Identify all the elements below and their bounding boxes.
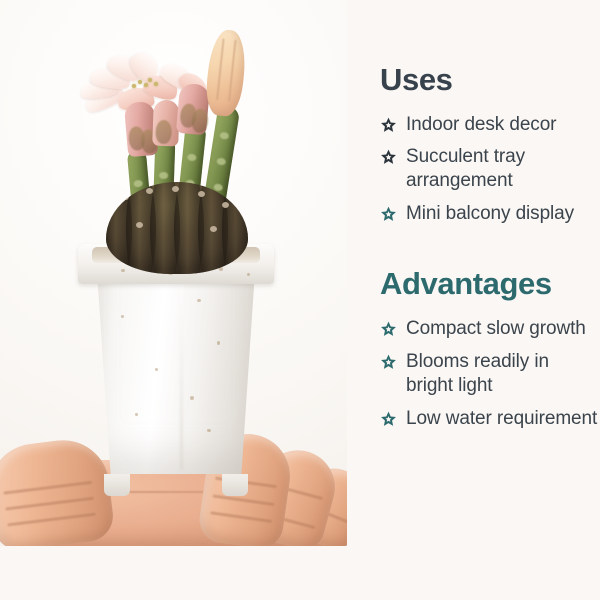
- flower-tube-3: [176, 83, 210, 135]
- plant-pot-group: [78, 244, 274, 502]
- uses-list: Indoor desk decor Succulent tray arrange…: [380, 113, 600, 227]
- pot-corner-highlight: [180, 270, 183, 470]
- list-item-label: Low water requirement: [406, 407, 597, 431]
- star-icon: [380, 411, 397, 428]
- list-item: Indoor desk decor: [380, 113, 600, 137]
- product-photo: [0, 0, 347, 546]
- cactus-body: [106, 182, 248, 274]
- section-title-uses: Uses: [380, 64, 600, 97]
- list-item: Low water requirement: [380, 407, 600, 431]
- section-title-advantages: Advantages: [380, 268, 600, 301]
- list-item-label: Mini balcony display: [406, 202, 574, 226]
- list-item: Blooms readily in bright light: [380, 350, 600, 398]
- star-icon: [380, 149, 397, 166]
- pot-body: [90, 270, 262, 474]
- star-icon: [380, 321, 397, 338]
- list-item-label: Compact slow growth: [406, 317, 586, 341]
- advantages-list: Compact slow growth Blooms readily in br…: [380, 317, 600, 431]
- infographic-page: Uses Indoor desk decor Succulent tray ar…: [0, 0, 600, 600]
- list-item: Mini balcony display: [380, 202, 600, 226]
- section-uses: Uses Indoor desk decor Succulent tray ar…: [380, 64, 600, 226]
- star-icon: [380, 206, 397, 223]
- list-item: Succulent tray arrangement: [380, 145, 600, 193]
- flower-bud-unopened: [204, 28, 249, 117]
- photo-backdrop: [0, 0, 347, 546]
- list-item-label: Indoor desk decor: [406, 113, 556, 137]
- list-item-label: Blooms readily in bright light: [406, 350, 600, 398]
- list-item: Compact slow growth: [380, 317, 600, 341]
- info-panel: Uses Indoor desk decor Succulent tray ar…: [380, 0, 600, 600]
- pot-foot-left: [104, 474, 130, 496]
- section-advantages: Advantages Compact slow growth Blooms re…: [380, 268, 600, 430]
- list-item-label: Succulent tray arrangement: [406, 145, 600, 193]
- star-icon: [380, 117, 397, 134]
- star-icon: [380, 354, 397, 371]
- pot-foot-right: [222, 474, 248, 496]
